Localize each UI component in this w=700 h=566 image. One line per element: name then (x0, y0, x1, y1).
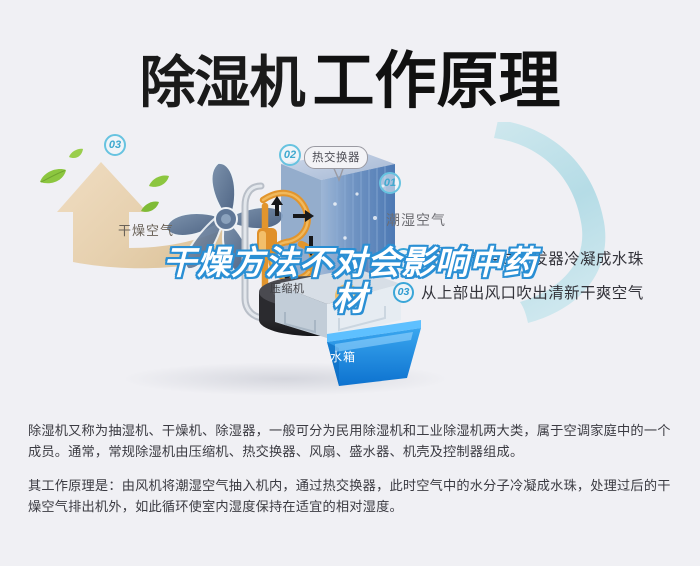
leaf-icon (140, 200, 160, 220)
list-item: 02 潮湿空气经过蒸发器冷凝成水珠 (393, 241, 693, 275)
page-title-part2: 工作原理 (312, 47, 560, 116)
step-label: 从上部出风口吹出清新干爽空气 (421, 281, 644, 303)
marker-03: 03 (104, 134, 126, 156)
page-title: 除湿机工作原理 (0, 30, 700, 120)
page-root: 除湿机工作原理 (0, 0, 700, 566)
heat-exchanger-callout: 热交换器 (304, 146, 368, 169)
label-compressor: 压缩机 (270, 280, 305, 296)
marker-02: 02 (279, 144, 301, 166)
paragraph-1: 除湿机又称为抽湿机、干燥机、除湿器，一般可分为民用除湿机和工业除湿机两大类，属于… (28, 420, 678, 462)
leaf-icon (38, 167, 68, 192)
paragraph-2: 其工作原理是：由风机将潮湿空气抽入机内，通过热交换器，此时空气中的水分子冷凝成水… (28, 475, 678, 517)
label-dry-air: 干燥空气 (118, 220, 174, 239)
step-number-badge: 02 (393, 248, 414, 269)
label-humid-air: 潮湿空气 (386, 210, 446, 230)
leaf-icon (68, 147, 84, 165)
marker-01: 01 (379, 172, 401, 194)
step-number-badge: 03 (393, 282, 414, 303)
list-item: 03 从上部出风口吹出清新干爽空气 (393, 275, 693, 309)
step-label: 潮湿空气经过蒸发器冷凝成水珠 (421, 247, 644, 269)
page-title-part1: 除湿机 (139, 51, 304, 114)
body-copy: 除湿机又称为抽湿机、干燥机、除湿器，一般可分为民用除湿机和工业除湿机两大类，属于… (28, 420, 678, 530)
step-list: 02 潮湿空气经过蒸发器冷凝成水珠 03 从上部出风口吹出清新干爽空气 (393, 241, 693, 309)
label-water-tank: 水箱 (330, 348, 356, 365)
